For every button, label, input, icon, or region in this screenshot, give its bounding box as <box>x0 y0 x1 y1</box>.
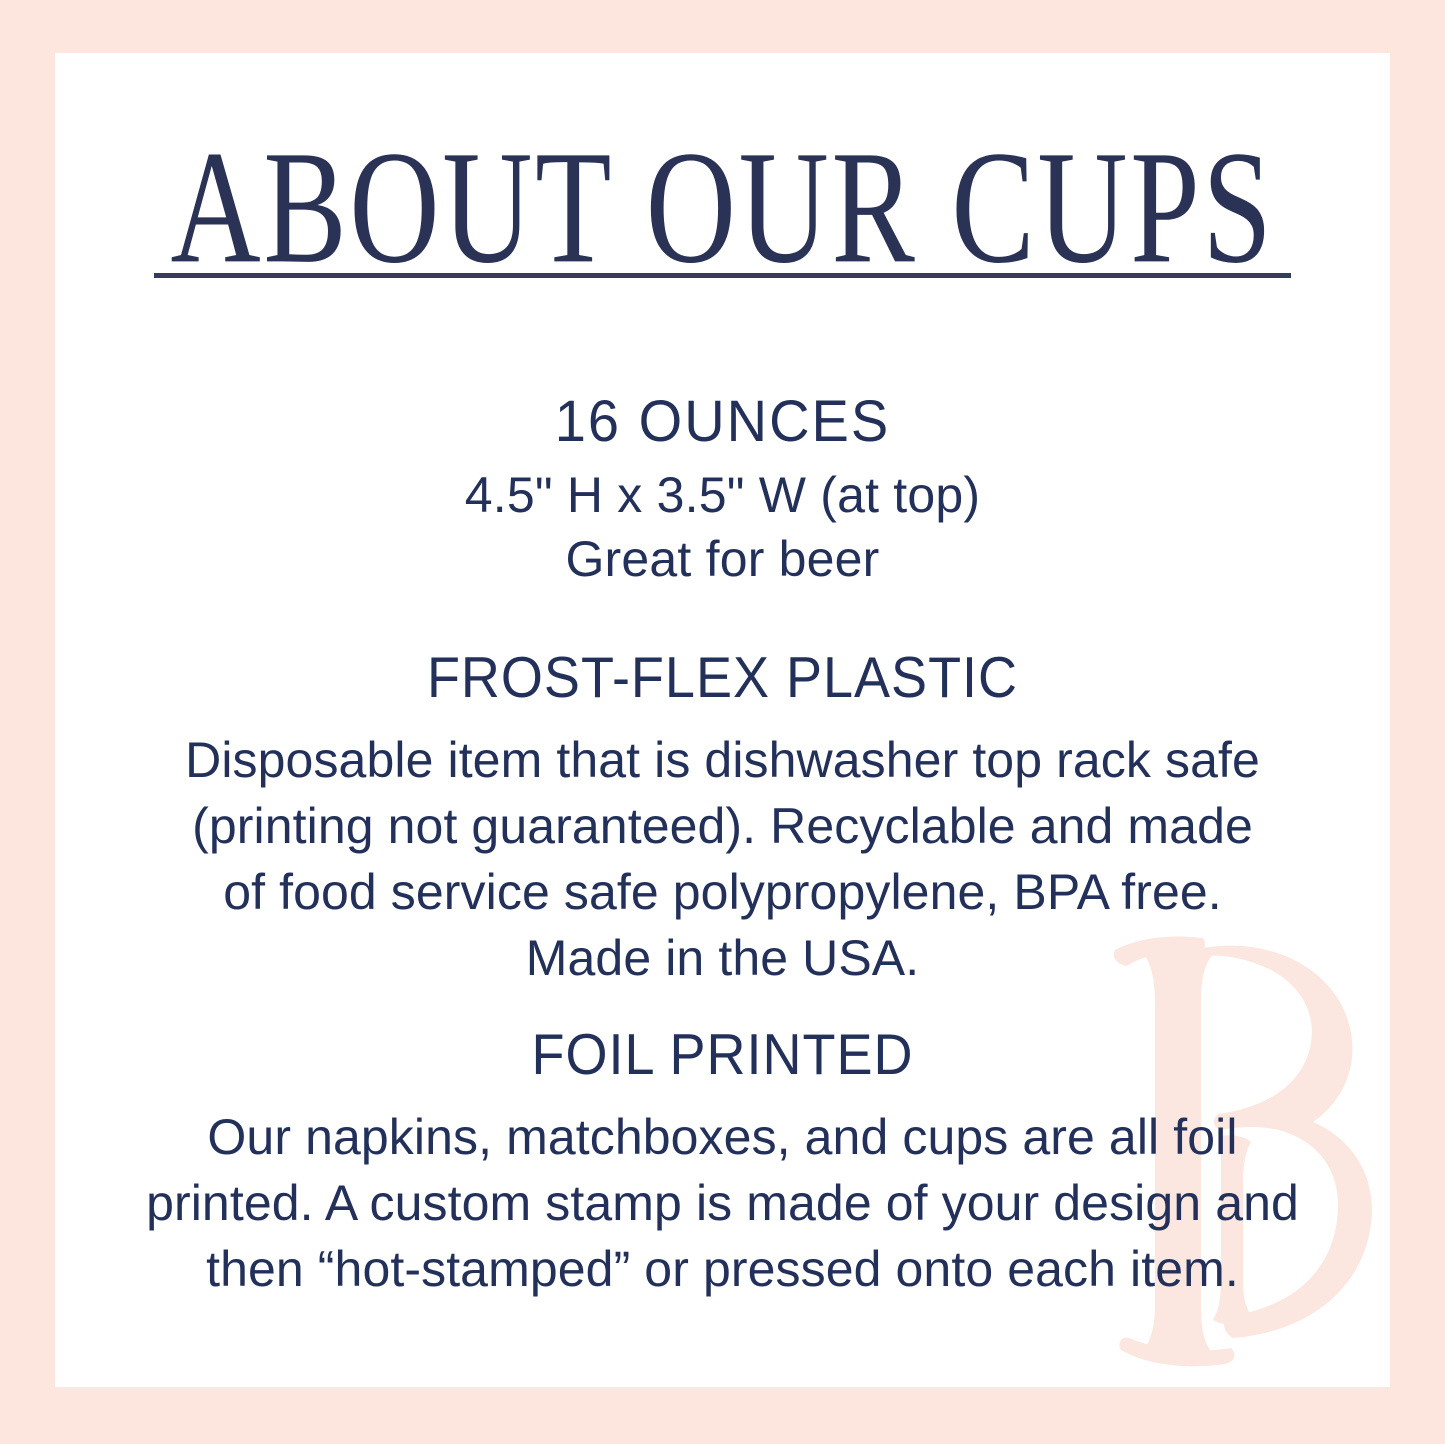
card-content: ABOUT OUR CUPS 16 OUNCES 4.5" H x 3.5" W… <box>55 53 1390 1387</box>
section-ounces: 16 OUNCES 4.5" H x 3.5" W (at top) Great… <box>55 393 1390 591</box>
info-card: ABOUT OUR CUPS 16 OUNCES 4.5" H x 3.5" W… <box>55 53 1390 1387</box>
section-frost-flex-heading: FROST-FLEX PLASTIC <box>55 649 1390 706</box>
page-frame: ABOUT OUR CUPS 16 OUNCES 4.5" H x 3.5" W… <box>0 0 1445 1444</box>
page-title: ABOUT OUR CUPS <box>135 128 1310 287</box>
section-foil-printed-body: Our napkins, matchboxes, and cups are al… <box>55 1104 1390 1302</box>
title-block: ABOUT OUR CUPS <box>55 128 1390 278</box>
section-ounces-heading: 16 OUNCES <box>55 392 1390 451</box>
section-frost-flex-body: Disposable item that is dishwasher top r… <box>55 727 1390 991</box>
section-ounces-body: 4.5" H x 3.5" W (at top) Great for beer <box>55 463 1390 591</box>
section-frost-flex-plastic: FROST-FLEX PLASTIC Disposable item that … <box>55 651 1390 991</box>
section-foil-printed-heading: FOIL PRINTED <box>55 1026 1390 1083</box>
section-foil-printed: FOIL PRINTED Our napkins, matchboxes, an… <box>55 1028 1390 1302</box>
